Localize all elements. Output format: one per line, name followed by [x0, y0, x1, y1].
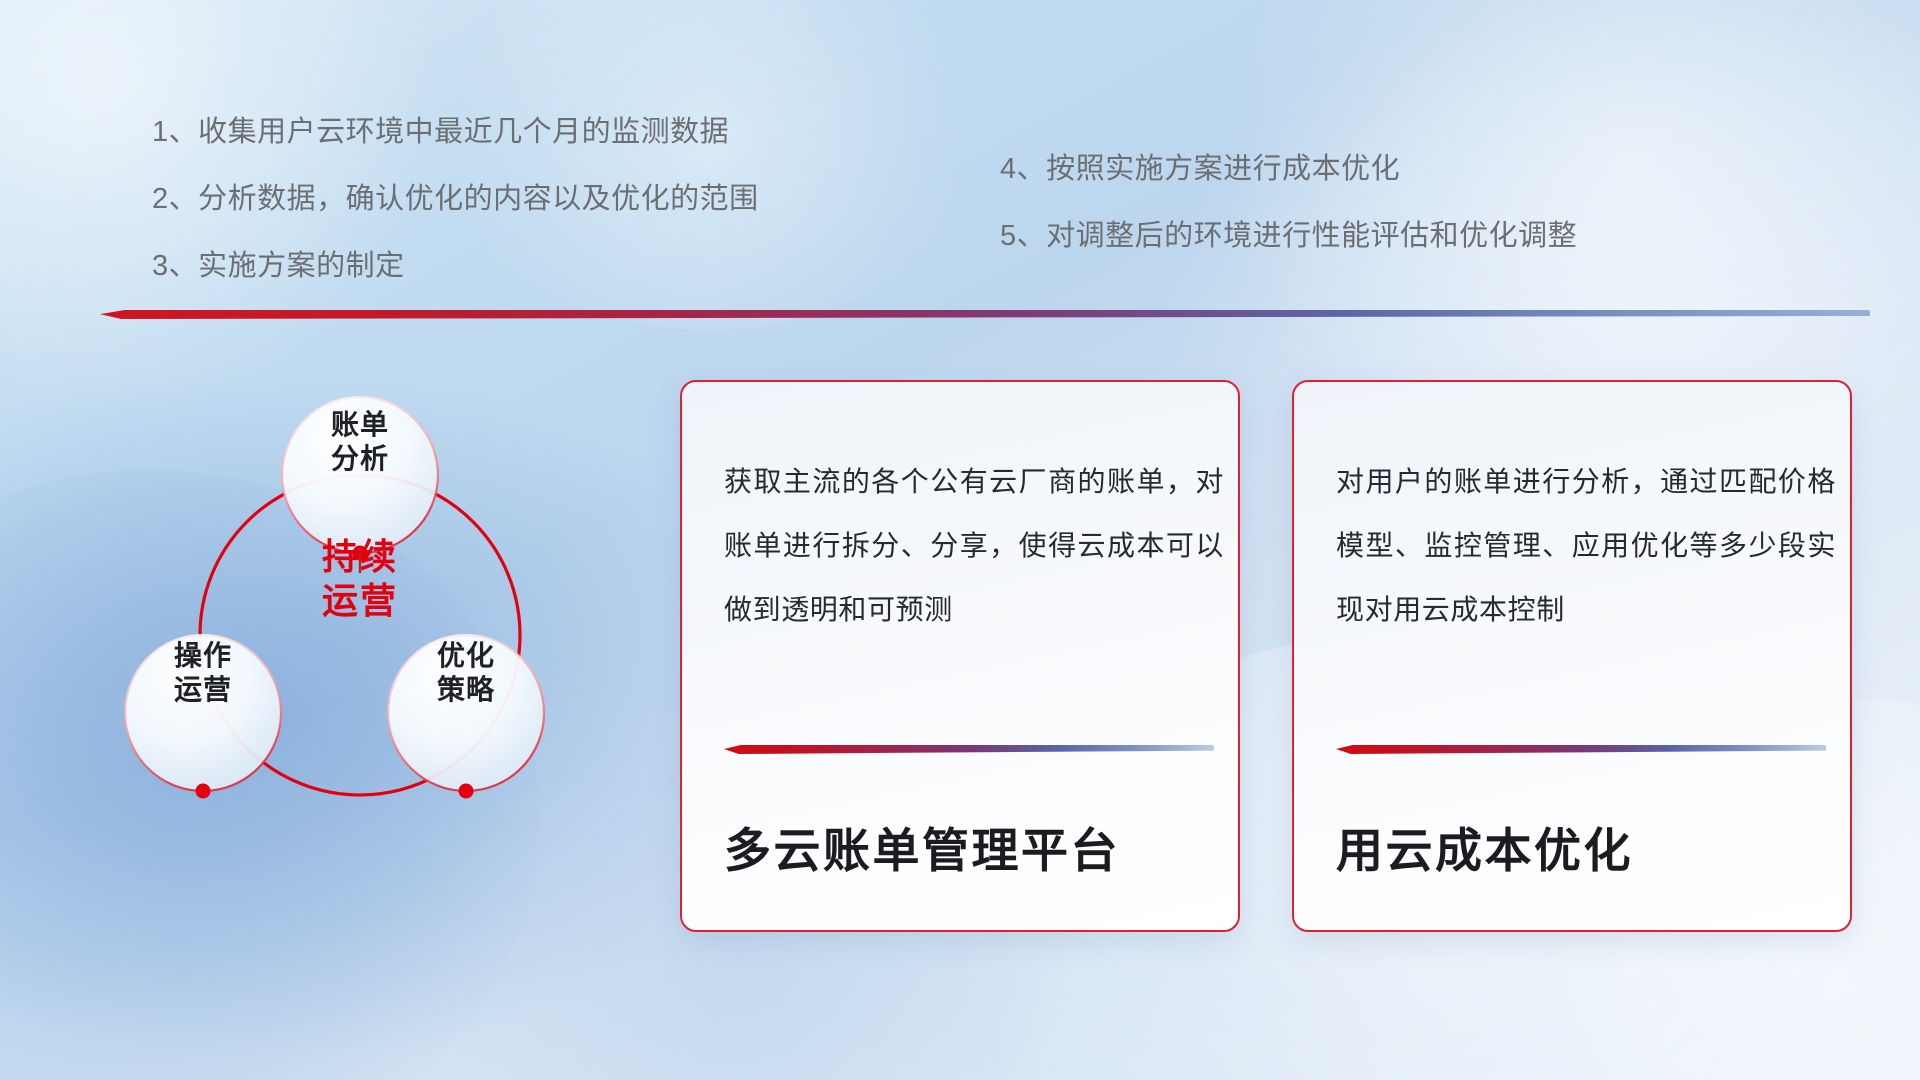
- venn-diagram: 账单 分析 操作 运营 优化 策略 持续 运营: [95, 345, 635, 945]
- steps-left-column: 1、收集用户云环境中最近几个月的监测数据 2、分析数据，确认优化的内容以及优化的…: [152, 118, 759, 281]
- venn-node-dot-left: [196, 784, 211, 799]
- card-title: 多云账单管理平台: [724, 812, 1224, 881]
- feature-card-cost-optimization[interactable]: 对用户的账单进行分析，通过匹配价格模型、监控管理、应用优化等多少段实现对用云成本…: [1292, 380, 1852, 932]
- card-body-text: 对用户的账单进行分析，通过匹配价格模型、监控管理、应用优化等多少段实现对用云成本…: [1336, 450, 1836, 641]
- step-item-3: 3、实施方案的制定: [152, 252, 759, 281]
- card-divider-rule: [1336, 745, 1826, 754]
- step-item-5: 5、对调整后的环境进行性能评估和优化调整: [1000, 222, 1577, 251]
- venn-label-right: 优化 策略: [396, 639, 536, 707]
- venn-node-dot-right: [459, 784, 474, 799]
- card-title: 用云成本优化: [1336, 812, 1836, 881]
- venn-label-left: 操作 运营: [133, 639, 273, 707]
- step-item-1: 1、收集用户云环境中最近几个月的监测数据: [152, 118, 759, 147]
- section-divider-rule: [100, 310, 1870, 319]
- steps-right-column: 4、按照实施方案进行成本优化 5、对调整后的环境进行性能评估和优化调整: [1000, 155, 1577, 251]
- card-body-text: 获取主流的各个公有云厂商的账单，对账单进行拆分、分享，使得云成本可以做到透明和可…: [724, 450, 1224, 641]
- card-divider-rule: [724, 745, 1214, 754]
- venn-center-label: 持续 运营: [255, 535, 465, 623]
- step-item-4: 4、按照实施方案进行成本优化: [1000, 155, 1577, 184]
- venn-label-top: 账单 分析: [280, 408, 440, 476]
- feature-card-multicloud-billing[interactable]: 获取主流的各个公有云厂商的账单，对账单进行拆分、分享，使得云成本可以做到透明和可…: [680, 380, 1240, 932]
- slide-canvas: 1、收集用户云环境中最近几个月的监测数据 2、分析数据，确认优化的内容以及优化的…: [0, 0, 1920, 1080]
- step-item-2: 2、分析数据，确认优化的内容以及优化的范围: [152, 185, 759, 214]
